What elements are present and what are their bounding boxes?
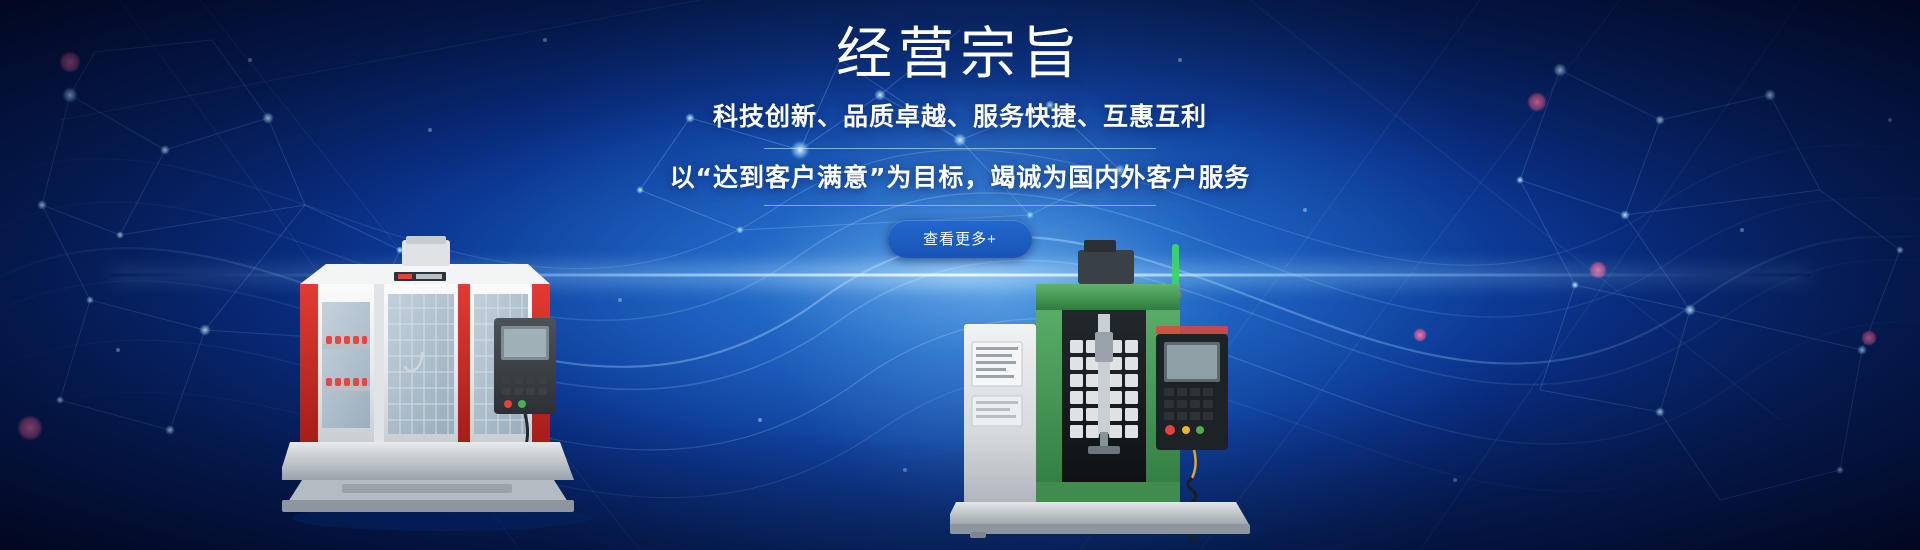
banner-tagline: 以“达到客户满意”为目标，竭诚为国内外客户服务	[670, 158, 1251, 194]
divider-top	[764, 148, 1156, 149]
divider-bottom	[764, 205, 1156, 206]
banner-content: 经营宗旨 科技创新、品质卓越、服务快捷、互惠互利 以“达到客户满意”为目标，竭诚…	[0, 0, 1920, 550]
banner-subtitle: 科技创新、品质卓越、服务快捷、互惠互利	[713, 97, 1207, 133]
hero-banner: 经营宗旨 科技创新、品质卓越、服务快捷、互惠互利 以“达到客户满意”为目标，竭诚…	[0, 0, 1920, 550]
page-title: 经营宗旨	[836, 26, 1084, 85]
view-more-button[interactable]: 查看更多+	[888, 220, 1032, 258]
